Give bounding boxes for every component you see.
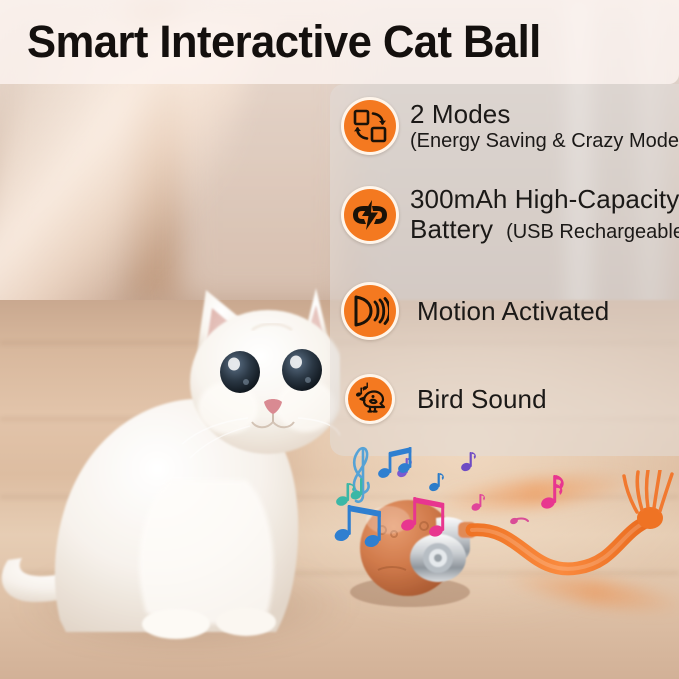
feature-item-two-modes: 2 Modes (Energy Saving & Crazy Mode) [330,97,679,155]
music-note-pink-small [470,494,485,512]
floating-music-notes [330,425,610,555]
two-modes-cycle-icon [341,97,399,155]
feature-text-two-modes: 2 Modes (Energy Saving & Crazy Mode) [410,99,679,154]
music-note-blue-eighth [428,473,444,492]
page-title: Smart Interactive Cat Ball [27,13,541,71]
feature-subtitle-two-modes: (Energy Saving & Crazy Mode) [410,129,679,154]
feature-list-panel: 2 Modes (Energy Saving & Crazy Mode) 300… [330,84,679,456]
feature-title-two-modes: 2 Modes [410,99,679,129]
music-note-purple-right [460,452,476,472]
feature-item-bird-sound: Bird Sound [330,374,547,424]
feature-text-battery: 300mAh High-Capacity Battery (USB Rechar… [410,184,679,245]
feature-title-motion-activated: Motion Activated [417,296,609,326]
product-infographic: Smart Interactive Cat Ball 2 Modes (Ener… [0,0,679,679]
feature-text-bird-sound: Bird Sound [417,384,547,414]
cat-photo [0,150,340,650]
feature-item-battery: 300mAh High-Capacity Battery (USB Rechar… [330,184,679,245]
feature-item-motion-activated: Motion Activated [330,282,609,340]
music-note-pink-tail [509,517,528,525]
music-note-blue-pair [333,505,381,549]
feature-text-motion-activated: Motion Activated [417,296,609,326]
feature-subtitle-battery: (USB Rechargeable) [506,220,679,245]
feature-title-bird-sound: Bird Sound [417,384,547,414]
motion-sensor-wave-icon [341,282,399,340]
feature-title-battery-line2: Battery [410,214,493,244]
title-banner: Smart Interactive Cat Ball [0,0,679,84]
battery-charge-bolt-icon [341,186,399,244]
feature-title-battery-line1: 300mAh High-Capacity [410,184,679,214]
music-note-pink-double [400,497,445,538]
bird-music-note-icon [345,374,395,424]
music-note-magenta-right [540,475,564,510]
